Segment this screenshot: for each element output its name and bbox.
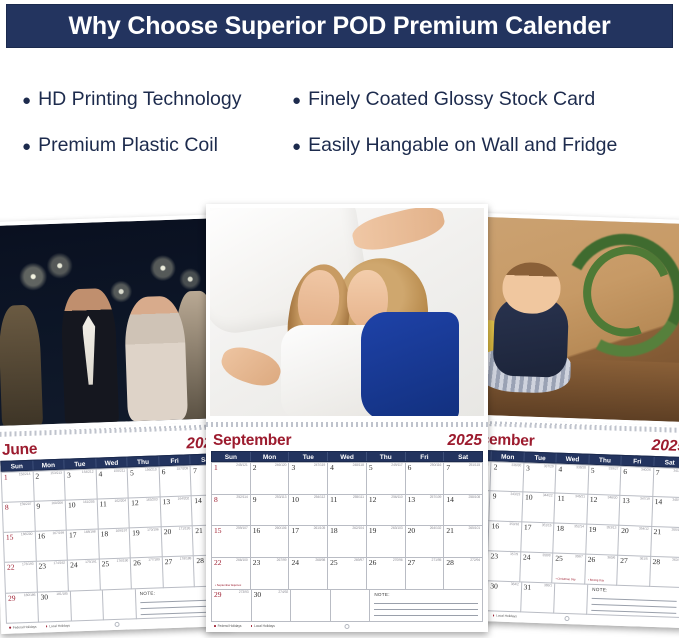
note-write-line[interactable] xyxy=(592,598,677,602)
calendar-day-cell[interactable]: 12256/110 xyxy=(367,495,406,527)
day-julian-count: 353/13 xyxy=(606,527,616,531)
legend-dot-icon xyxy=(9,627,11,629)
calendar-day-cell[interactable]: 10161/205 xyxy=(66,499,99,530)
day-julian-count: 160/206 xyxy=(51,502,63,506)
calendar-footer: Federal Holidays Local Holidays xyxy=(211,622,483,628)
day-julian-count: 364/2 xyxy=(511,583,519,587)
calendar-day-cell[interactable]: 10344/22 xyxy=(522,493,555,524)
day-julian-count: 344/22 xyxy=(543,495,553,499)
day-julian-count: 154/212 xyxy=(82,470,94,474)
calendar-day-cell[interactable]: 23267/99 xyxy=(251,558,290,590)
day-julian-count: 177/189 xyxy=(148,559,160,563)
day-holiday-note: • Christmas Day xyxy=(556,577,576,581)
calendar-day-cell[interactable]: 10254/112 xyxy=(289,495,328,527)
legend-local-holidays: Local Holidays xyxy=(251,624,275,628)
calendar-day-cell[interactable]: 6250/116 xyxy=(406,463,445,495)
weekday-label: Sat xyxy=(444,452,482,461)
day-holiday-note: • September Equinox xyxy=(215,584,241,587)
day-julian-count: 350/16 xyxy=(509,523,519,527)
day-julian-count: 351/15 xyxy=(542,524,552,528)
calendar-day-cell[interactable]: 7341/25 xyxy=(653,468,679,499)
calendar-day-cell[interactable]: 2336/30 xyxy=(491,462,524,493)
year-label: 2025 xyxy=(651,438,679,455)
day-julian-count: 258/108 xyxy=(468,496,480,499)
day-julian-count: 272/94 xyxy=(470,559,480,562)
calendar-day-cell[interactable]: 8252/114 xyxy=(212,495,251,527)
day-julian-count: 339/27 xyxy=(609,467,619,471)
calendar-grid: June 2025 Sun Mon Tue Wed Thu Fri Sat 11… xyxy=(0,431,233,634)
day-julian-count: 352/14 xyxy=(574,526,584,530)
calendar-day-cell[interactable]: 8159/207 xyxy=(3,502,36,533)
calendar-day-cell[interactable]: 25269/97 xyxy=(328,558,367,590)
calendar-day-cell-empty xyxy=(291,590,331,622)
day-julian-count: 261/105 xyxy=(314,527,326,530)
note-block[interactable]: NOTE: xyxy=(587,585,679,618)
day-julian-count: 357/9 xyxy=(510,553,518,557)
weekday-label: Fri xyxy=(622,455,655,465)
calendar-day-cell[interactable]: 26177/189 xyxy=(131,558,164,589)
calendar-day-cell[interactable]: 12163/203 xyxy=(129,497,162,528)
note-label: NOTE: xyxy=(374,592,478,597)
calendar-grid: September 2025 Sun Mon Tue Wed Thu Fri S… xyxy=(206,429,488,632)
calendar-day-cell[interactable]: 19170/196 xyxy=(130,527,163,558)
calendar-day-cell[interactable]: 21265/101 xyxy=(444,526,483,558)
calendar-day-cell[interactable]: 5339/27 xyxy=(588,465,621,496)
calendar-day-cell[interactable]: 30364/2 xyxy=(487,581,521,612)
day-julian-count: 169/197 xyxy=(116,530,128,534)
day-julian-count: 260/106 xyxy=(275,527,287,530)
note-write-line[interactable] xyxy=(374,603,478,604)
calendar-day-cell[interactable]: 11255/111 xyxy=(328,495,367,527)
day-julian-count: 163/203 xyxy=(146,498,158,502)
day-julian-count: 251/115 xyxy=(469,464,480,467)
day-julian-count: 246/120 xyxy=(275,464,287,467)
day-julian-count: 264/102 xyxy=(430,527,442,530)
day-julian-count: 358/8 xyxy=(542,554,550,558)
two-women-on-bed-photo xyxy=(210,208,484,416)
hanging-hole-icon xyxy=(114,622,119,627)
calendar-day-cell[interactable]: 29273/93 xyxy=(212,590,252,622)
day-julian-count: 254/112 xyxy=(314,496,325,499)
legend-local-holidays: Local Holidays xyxy=(46,624,70,629)
legend-label: Federal Holidays xyxy=(218,624,242,628)
calendar-day-cell[interactable]: 14348/18 xyxy=(652,497,679,528)
calendar-week-row: 1245/1212246/1203247/1194248/1185249/117… xyxy=(212,463,483,495)
note-write-line[interactable] xyxy=(374,615,478,616)
calendar-day-cell[interactable]: 31365/1 xyxy=(521,583,555,614)
calendar-day-cell[interactable]: 2246/120 xyxy=(251,463,290,495)
hanging-hole-icon xyxy=(564,616,569,621)
day-julian-count: 245/121 xyxy=(236,464,248,467)
day-julian-count: 175/191 xyxy=(85,561,97,565)
day-julian-count: 337/29 xyxy=(544,465,554,469)
spiral-coil-binding xyxy=(206,420,488,429)
day-julian-count: 346/20 xyxy=(607,497,617,501)
day-julian-count: 267/99 xyxy=(277,559,287,562)
legend-label: Federal Holidays xyxy=(13,625,37,630)
day-julian-count: 156/210 xyxy=(145,468,157,472)
day-julian-count: 248/118 xyxy=(353,464,364,467)
note-write-line[interactable] xyxy=(591,610,676,614)
calendar-day-cell[interactable]: 13164/202 xyxy=(161,496,194,527)
day-julian-count: 247/119 xyxy=(314,464,325,467)
day-julian-count: 355/11 xyxy=(671,529,679,533)
calendar-day-cell[interactable]: 25359/7• Christmas Day xyxy=(552,554,585,585)
calendar-day-cell-empty xyxy=(331,590,371,622)
weekday-label: Thu xyxy=(589,454,622,464)
weekday-label: Mon xyxy=(492,451,525,461)
day-julian-count: 168/198 xyxy=(84,531,96,535)
calendar-day-cell[interactable]: 6157/209 xyxy=(159,466,192,497)
calendar-day-cell[interactable]: 18352/14 xyxy=(554,524,587,555)
legend-dot-icon xyxy=(214,625,216,627)
day-julian-count: 181/185 xyxy=(56,592,68,596)
calendar-day-cell[interactable]: 24268/98 xyxy=(289,558,328,590)
calendar-day-cell[interactable]: 4248/118 xyxy=(328,463,367,495)
calendar-week-row: 15259/10716260/10617261/10518262/1041926… xyxy=(212,526,483,558)
day-julian-count: 173/193 xyxy=(22,563,34,567)
day-julian-count: 250/116 xyxy=(430,464,441,467)
calendar-day-cell[interactable]: 29180/186 xyxy=(6,592,39,623)
calendar-day-cell[interactable]: 3154/212 xyxy=(65,469,98,500)
weekday-label: Wed xyxy=(328,452,367,461)
year-label: 2025 xyxy=(448,433,482,449)
day-julian-count: 274/92 xyxy=(278,591,288,594)
legend-dot-icon xyxy=(46,626,48,628)
legend-dot-icon xyxy=(251,625,253,627)
day-julian-count: 255/111 xyxy=(353,496,364,499)
day-julian-count: 180/186 xyxy=(24,593,36,597)
day-julian-count: 159/207 xyxy=(20,503,32,507)
calendar-day-cell[interactable]: 14258/108 xyxy=(444,495,483,527)
calendar-day-cell[interactable]: 20171/195 xyxy=(162,526,195,557)
hanging-hole-icon xyxy=(345,624,350,629)
calendar-day-cell[interactable]: 3337/29 xyxy=(523,463,556,494)
calendar-day-cell[interactable]: 20354/12 xyxy=(618,526,651,557)
calendar-day-cell[interactable]: 20264/102 xyxy=(406,526,445,558)
day-julian-count: 365/1 xyxy=(544,584,552,588)
calendar-day-cell[interactable]: 19353/13 xyxy=(586,525,619,556)
calendar-day-cell[interactable]: 27361/5 xyxy=(617,556,650,587)
day-julian-count: 164/202 xyxy=(178,497,190,501)
weekday-label: Wed xyxy=(96,457,128,467)
legend-federal-holidays: Federal Holidays xyxy=(214,624,242,628)
day-julian-count: 340/26 xyxy=(641,468,651,472)
calendar-week-row: 8252/1149253/11310254/11211255/11112256/… xyxy=(212,495,483,527)
calendar-day-cell[interactable]: 9343/23 xyxy=(490,492,523,523)
calendar-day-cell[interactable]: 23174/192 xyxy=(36,561,69,592)
calendar-day-cell[interactable]: 12346/20 xyxy=(587,495,620,526)
day-julian-count: 273/93 xyxy=(239,591,249,594)
calendar-day-cell[interactable]: 17351/15 xyxy=(521,523,554,554)
weekday-label: Mon xyxy=(33,459,65,469)
calendar-day-cell[interactable]: 9253/113 xyxy=(251,495,290,527)
day-julian-count: 257/109 xyxy=(430,496,442,499)
day-julian-count: 253/113 xyxy=(275,496,286,499)
day-julian-count: 336/30 xyxy=(511,464,521,468)
calendar-day-cell[interactable]: 6340/26 xyxy=(620,466,653,497)
calendar-day-cell[interactable]: 16350/16 xyxy=(489,522,522,553)
weekday-label: Sun xyxy=(1,460,33,470)
day-holiday-note: • Boxing Day xyxy=(588,578,604,582)
calendar-day-cell[interactable]: 7251/115 xyxy=(444,463,483,495)
note-label: NOTE: xyxy=(592,587,677,595)
calendar-day-cell[interactable]: 25176/190 xyxy=(100,559,133,590)
calendar-photo-panel xyxy=(206,204,488,420)
day-julian-count: 174/192 xyxy=(53,562,65,566)
calendar-day-cell[interactable]: 30181/185 xyxy=(38,591,71,622)
day-julian-count: 157/209 xyxy=(177,467,189,471)
weekday-label: Fri xyxy=(159,455,191,465)
calendar-day-cell[interactable]: 30274/92 xyxy=(252,590,292,622)
legend-federal-holidays: Federal Holidays xyxy=(9,625,37,630)
day-julian-count: 347/19 xyxy=(640,498,650,502)
day-julian-count: 153/213 xyxy=(50,471,62,475)
day-julian-count: 176/190 xyxy=(117,560,129,564)
day-julian-count: 269/97 xyxy=(354,559,364,562)
calendar-day-cell-empty xyxy=(71,590,104,621)
calendar-day-cell[interactable]: 5249/117 xyxy=(367,463,406,495)
calendar-week-row: 29273/9330274/92NOTE: xyxy=(212,590,483,622)
calendar-photo-panel xyxy=(0,214,226,430)
calendar-day-cell[interactable]: 22173/193 xyxy=(5,562,38,593)
day-julian-count: 259/107 xyxy=(236,527,248,530)
weekday-label: Fri xyxy=(406,452,445,461)
calendar-month-header: September 2025 xyxy=(211,432,483,451)
calendar-day-cell[interactable]: 19263/103 xyxy=(367,526,406,558)
calendar-day-cell[interactable]: 3247/119 xyxy=(289,463,328,495)
legend-label: Local Holidays xyxy=(254,624,275,628)
day-julian-count: 341/25 xyxy=(673,469,679,473)
weekday-label: Sat xyxy=(654,457,679,467)
calendar-weeks: 1245/1212246/1203247/1194248/1185249/117… xyxy=(211,462,483,622)
day-julian-count: 252/114 xyxy=(236,496,247,499)
day-julian-count: 348/18 xyxy=(672,499,679,503)
calendar-day-cell[interactable]: 4338/28 xyxy=(556,464,589,495)
calendar-day-cell[interactable]: 27271/95 xyxy=(406,558,445,590)
weekday-label: Tue xyxy=(524,452,557,462)
day-julian-count: 171/195 xyxy=(179,527,191,531)
calendar-day-cell[interactable]: 18169/197 xyxy=(98,529,131,560)
weekday-label: Sun xyxy=(212,452,251,461)
calendar-day-cell[interactable]: 2153/213 xyxy=(33,470,66,501)
day-julian-count: 178/188 xyxy=(180,558,192,562)
calendar-day-cell[interactable]: 1245/121 xyxy=(212,463,251,495)
legend-local-holidays: Local Holidays xyxy=(493,613,517,618)
day-julian-count: 262/104 xyxy=(352,527,364,530)
calendar-day-cell[interactable]: 11162/204 xyxy=(97,498,130,529)
day-julian-count: 256/110 xyxy=(391,496,402,499)
weekday-label: Tue xyxy=(64,458,96,468)
legend-label: Local Holidays xyxy=(496,614,517,619)
calendar-day-cell[interactable]: 23357/9 xyxy=(488,551,521,582)
weekday-label: Mon xyxy=(251,452,290,461)
day-julian-count: 361/5 xyxy=(640,558,648,562)
calendar-day-cell[interactable]: 4155/211 xyxy=(96,468,129,499)
calendar-day-cell[interactable]: 13257/109 xyxy=(406,495,445,527)
calendar-day-cell[interactable]: 17168/198 xyxy=(67,530,100,561)
calendar-day-cell[interactable]: 17261/105 xyxy=(289,526,328,558)
day-julian-count: 162/204 xyxy=(114,499,126,503)
calendar-day-cell[interactable]: 15166/200 xyxy=(4,532,37,563)
calendar-day-cell[interactable]: 15259/107 xyxy=(212,526,251,558)
calendar-center-september: September 2025 Sun Mon Tue Wed Thu Fri S… xyxy=(206,204,488,632)
day-julian-count: 360/6 xyxy=(607,557,615,561)
day-julian-count: 155/211 xyxy=(114,469,125,473)
day-julian-count: 338/28 xyxy=(576,466,586,470)
legend-label: Local Holidays xyxy=(49,624,70,629)
day-julian-count: 263/103 xyxy=(391,527,403,530)
calendar-left-june: June 2025 Sun Mon Tue Wed Thu Fri Sat 11… xyxy=(0,214,233,634)
calendar-day-cell[interactable]: 28272/94 xyxy=(444,558,483,590)
calendar-photo-panel xyxy=(455,212,679,426)
day-julian-count: 249/117 xyxy=(391,464,402,467)
day-julian-count: 362/4 xyxy=(672,559,679,563)
weekday-header-bar: Sun Mon Tue Wed Thu Fri Sat xyxy=(211,451,483,462)
calendar-showcase: June 2025 Sun Mon Tue Wed Thu Fri Sat 11… xyxy=(0,0,679,638)
calendar-day-cell[interactable]: 9160/206 xyxy=(34,500,67,531)
wedding-sparklers-photo xyxy=(0,218,222,426)
note-write-line[interactable] xyxy=(374,609,478,610)
calendar-day-cell[interactable]: 16260/106 xyxy=(251,526,290,558)
calendar-day-cell[interactable]: 22266/100• September Equinox xyxy=(212,558,251,590)
note-write-line[interactable] xyxy=(592,604,677,608)
weekday-label: Thu xyxy=(367,452,406,461)
calendar-day-cell[interactable]: 5156/210 xyxy=(128,467,161,498)
day-julian-count: 343/23 xyxy=(510,493,520,497)
calendar-day-cell[interactable]: 26270/96 xyxy=(367,558,406,590)
calendar-day-cell[interactable]: 27178/188 xyxy=(163,557,196,588)
day-julian-count: 268/98 xyxy=(315,559,325,562)
calendar-day-cell[interactable]: 21355/11 xyxy=(651,527,679,558)
calendar-day-cell[interactable]: 28362/4 xyxy=(650,557,679,588)
day-julian-count: 166/200 xyxy=(21,533,33,537)
calendar-day-cell[interactable]: 24358/8 xyxy=(520,553,553,584)
calendar-day-cell[interactable]: 13347/19 xyxy=(619,496,652,527)
month-label: June xyxy=(2,442,38,459)
day-julian-count: 152/214 xyxy=(19,472,31,476)
weekday-label: Thu xyxy=(128,456,160,466)
day-julian-count: 270/96 xyxy=(393,559,403,562)
legend-dot-icon xyxy=(493,615,495,617)
calendar-day-cell[interactable]: 24175/191 xyxy=(68,560,101,591)
day-julian-count: 354/12 xyxy=(639,528,649,532)
month-label: September xyxy=(213,433,291,449)
calendar-day-cell[interactable]: 16167/199 xyxy=(35,531,68,562)
calendar-weeks: 1152/2142153/2133154/2124155/2115156/210… xyxy=(1,464,228,624)
note-block[interactable]: NOTE: xyxy=(370,590,483,622)
calendar-day-cell-empty xyxy=(103,589,136,620)
day-julian-count: 266/100 xyxy=(236,559,248,562)
day-julian-count: 345/21 xyxy=(575,496,585,500)
day-julian-count: 265/101 xyxy=(468,527,480,530)
toddler-with-wreath-photo xyxy=(459,216,679,422)
calendar-day-cell[interactable]: 11345/21 xyxy=(555,494,588,525)
weekday-label: Wed xyxy=(557,453,590,463)
day-julian-count: 359/7 xyxy=(575,555,583,559)
day-julian-count: 167/199 xyxy=(52,532,64,536)
day-julian-count: 271/95 xyxy=(432,559,442,562)
calendar-day-cell-empty xyxy=(554,584,588,615)
calendar-day-cell[interactable]: 18262/104 xyxy=(328,526,367,558)
day-julian-count: 170/196 xyxy=(147,529,159,533)
calendar-week-row: 22266/100• September Equinox23267/992426… xyxy=(212,558,483,590)
calendar-day-cell[interactable]: 1152/214 xyxy=(2,471,35,502)
day-julian-count: 161/205 xyxy=(83,500,95,504)
calendar-day-cell[interactable]: 26360/6• Boxing Day xyxy=(585,555,618,586)
weekday-label: Tue xyxy=(289,452,328,461)
